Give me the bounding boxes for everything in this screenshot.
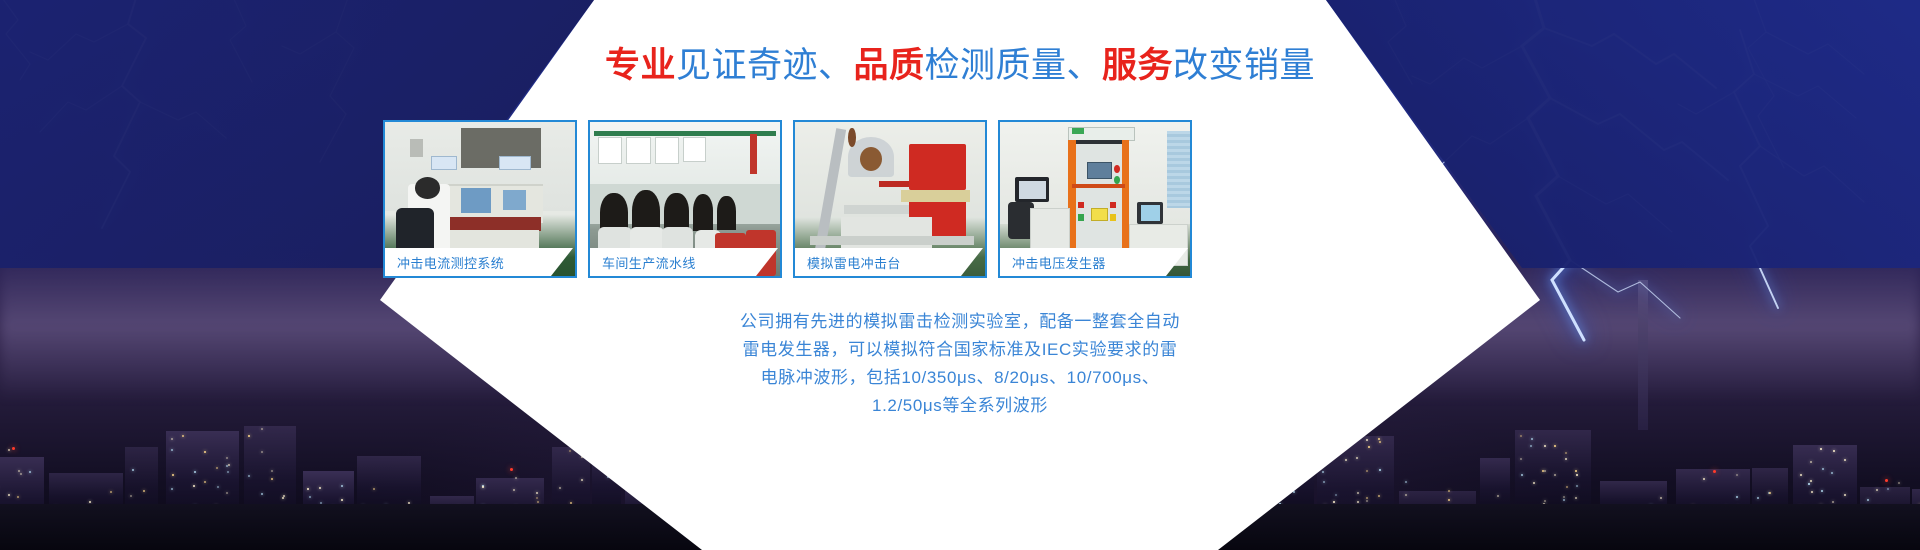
description-paragraph: 公司拥有先进的模拟雷击检测实验室，配备一整套全自动雷电发生器，可以模拟符合国家标… [0,308,1920,420]
page-title: 专业见证奇迹、品质检测质量、服务改变销量 [0,44,1920,88]
promo-banner: 专业见证奇迹、品质检测质量、服务改变销量 冲击电流测控系统 [0,0,1920,550]
headline-segment-4: 服务 [1102,46,1173,85]
thumbnail-caption: 冲击电压发生器 [1000,248,1188,276]
headline-segment-5: 改变销量 [1173,46,1315,85]
paragraph-line-2: 电脉冲波形，包括10/350μs、8/20μs、10/700μs、 [0,364,1920,392]
thumbnail-card[interactable]: 冲击电流测控系统 [383,120,577,278]
headline-segment-3: 检测质量、 [925,46,1103,85]
thumbnail-gallery: 冲击电流测控系统 [383,120,1539,280]
caption-text: 车间生产流水线 [602,253,696,272]
thumbnail-card[interactable]: 车间生产流水线 [588,120,782,278]
thumbnail-caption: 模拟雷电冲击台 [795,248,983,276]
caption-text: 冲击电流测控系统 [397,253,504,272]
headline-segment-0: 专业 [605,46,676,85]
thumbnail-caption: 车间生产流水线 [590,248,778,276]
caption-text: 模拟雷电冲击台 [807,253,901,272]
paragraph-line-3: 1.2/50μs等全系列波形 [0,392,1920,420]
thumbnail-card[interactable]: 冲击电压发生器 [998,120,1192,278]
caption-text: 冲击电压发生器 [1012,253,1106,272]
headline-segment-2: 品质 [853,46,924,85]
paragraph-line-1: 雷电发生器，可以模拟符合国家标准及IEC实验要求的雷 [0,336,1920,364]
thumbnail-caption: 冲击电流测控系统 [385,248,573,276]
paragraph-line-0: 公司拥有先进的模拟雷击检测实验室，配备一整套全自动 [0,308,1920,336]
headline-segment-1: 见证奇迹、 [676,46,854,85]
thumbnail-card[interactable]: 模拟雷电冲击台 [793,120,987,278]
